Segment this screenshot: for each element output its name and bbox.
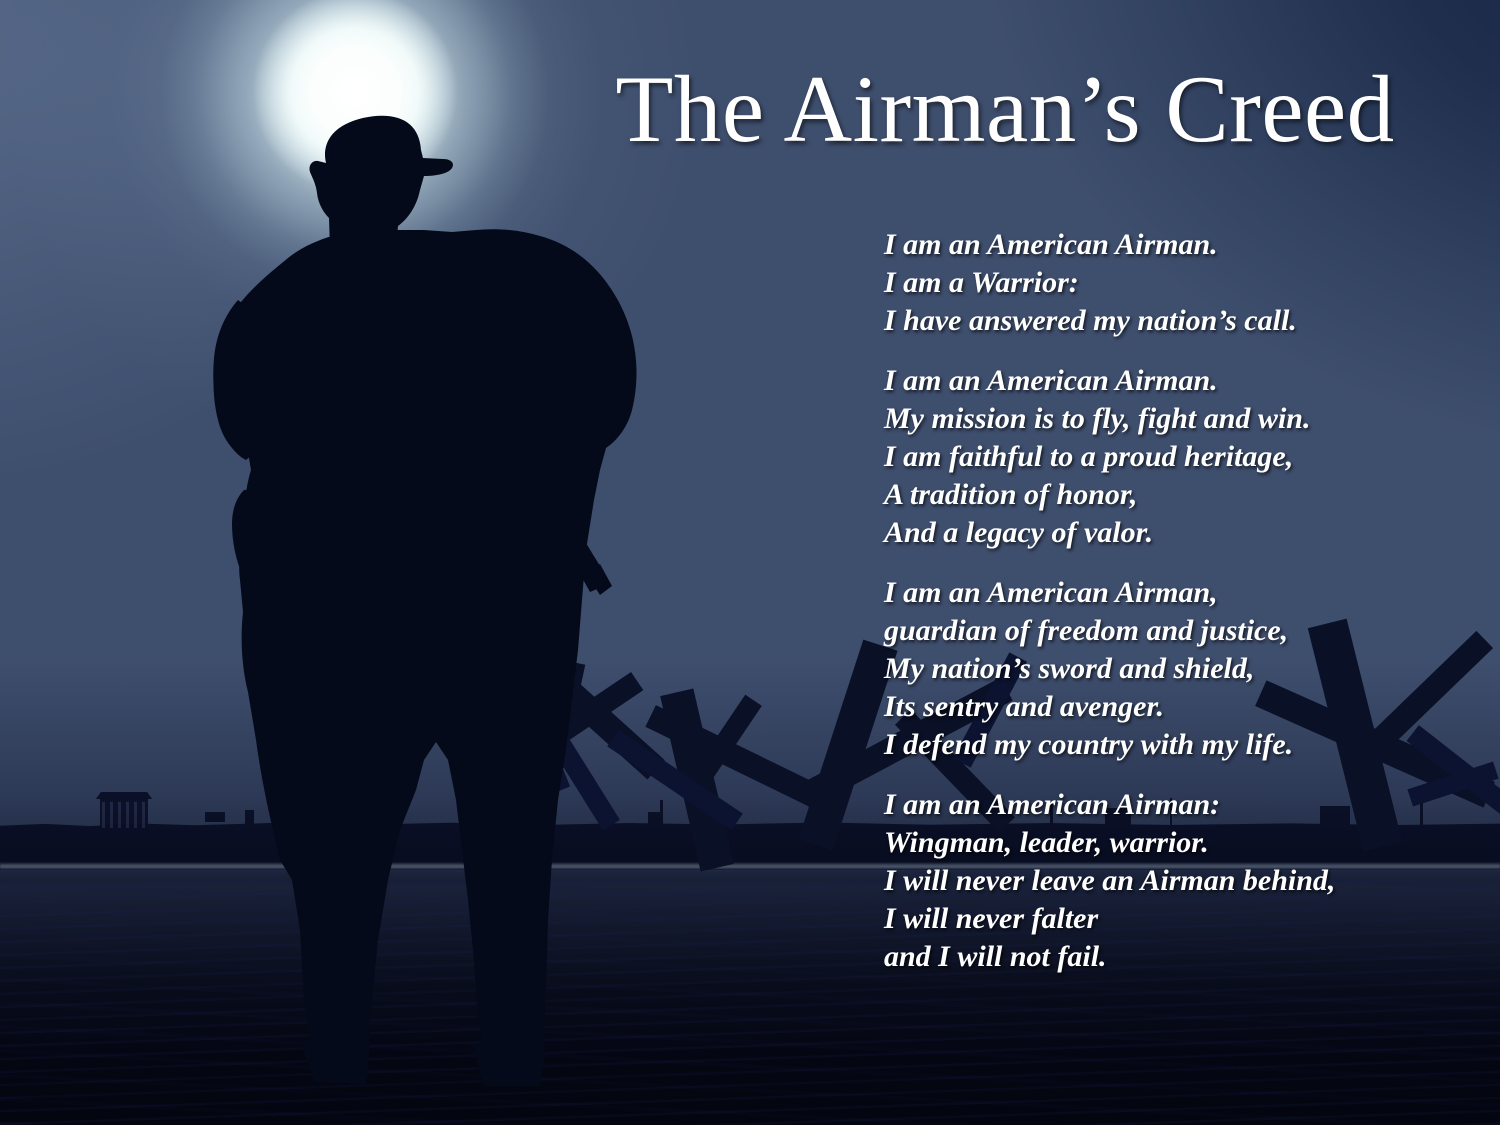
creed-stanza-4: I am an American Airman: Wingman, leader… [884,786,1484,976]
page-title: The Airman’s Creed [590,62,1420,157]
creed-line: I will never leave an Airman behind, [884,862,1484,900]
creed-line: I am an American Airman: [884,786,1484,824]
creed-line: Its sentry and avenger. [884,688,1484,726]
creed-line: I am an American Airman, [884,574,1484,612]
creed-line: and I will not fail. [884,938,1484,976]
creed-text-block: I am an American Airman. I am a Warrior:… [884,226,1484,976]
creed-line: My nation’s sword and shield, [884,650,1484,688]
creed-line: guardian of freedom and justice, [884,612,1484,650]
creed-line: Wingman, leader, warrior. [884,824,1484,862]
creed-line: I am an American Airman. [884,226,1484,264]
creed-line: And a legacy of valor. [884,514,1484,552]
creed-line: A tradition of honor, [884,476,1484,514]
creed-stanza-2: I am an American Airman. My mission is t… [884,362,1484,552]
creed-stanza-1: I am an American Airman. I am a Warrior:… [884,226,1484,340]
airmans-creed-poster: The Airman’s Creed I am an American Airm… [0,0,1500,1125]
creed-line: I will never falter [884,900,1484,938]
creed-line: I am an American Airman. [884,362,1484,400]
creed-line: I defend my country with my life. [884,726,1484,764]
creed-line: I have answered my nation’s call. [884,302,1484,340]
creed-line: I am a Warrior: [884,264,1484,302]
creed-line: My mission is to fly, fight and win. [884,400,1484,438]
creed-stanza-3: I am an American Airman, guardian of fre… [884,574,1484,764]
sun-core-icon [249,0,461,195]
creed-line: I am faithful to a proud heritage, [884,438,1484,476]
